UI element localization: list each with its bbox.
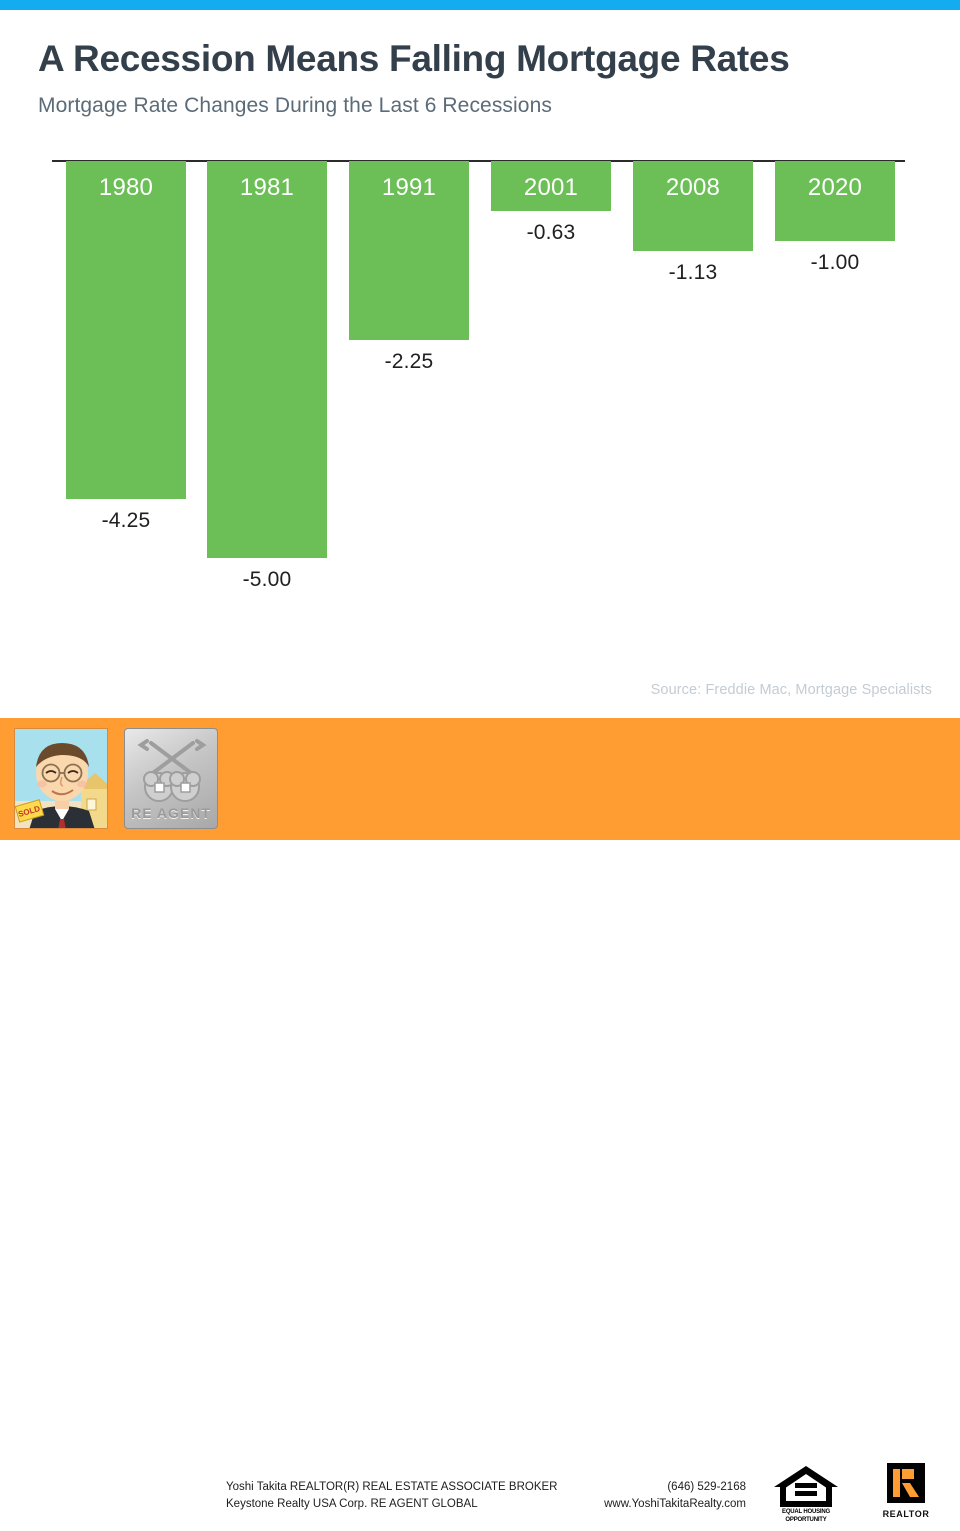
bar-chart: 1980 -4.25 1981 -5.00 1991 -2.25 2001 -0… [0,0,960,720]
equal-housing-opportunity-logo: EQUAL HOUSING OPPORTUNITY [772,1463,840,1531]
realtor-caption: REALTOR [876,1509,936,1519]
bar-value-2008: -1.13 [633,261,753,285]
bar-1980 [66,161,186,499]
bar-label-1991: 1991 [349,174,469,202]
bar-value-1991: -2.25 [349,350,469,374]
bar-value-1980: -4.25 [66,509,186,533]
equal-housing-caption: EQUAL HOUSING OPPORTUNITY [772,1509,840,1524]
realtor-r-icon [876,1463,936,1507]
footer-bar: SOLD RE AGENT [0,718,960,840]
bar-label-2020: 2020 [775,174,895,202]
agent-phone[interactable]: (646) 529-2168 [667,1479,746,1496]
eho-caption-line1: EQUAL HOUSING [782,1509,830,1515]
bar-label-2001: 2001 [491,174,611,202]
agent-contact-block: Yoshi Takita REALTOR(R) REAL ESTATE ASSO… [226,1479,746,1513]
eho-caption-line2: OPPORTUNITY [785,1517,826,1523]
re-agent-badge-text: RE AGENT [125,805,217,821]
bar-label-1981: 1981 [207,174,327,202]
equal-housing-house-icon [772,1463,840,1509]
agent-brokerage: Keystone Realty USA Corp. RE AGENT GLOBA… [226,1496,492,1513]
bar-label-1980: 1980 [66,174,186,202]
contact-line-2: Keystone Realty USA Corp. RE AGENT GLOBA… [226,1496,746,1513]
realtor-logo: REALTOR [876,1463,936,1531]
re-agent-badge-logo: RE AGENT [124,728,218,829]
agent-caricature-photo: SOLD [14,728,108,829]
bar-value-2001: -0.63 [491,221,611,245]
caricature-illustration: SOLD [15,729,108,829]
bar-value-1981: -5.00 [207,568,327,592]
source-note: Source: Freddie Mac, Mortgage Specialist… [651,682,932,698]
agent-name-title: Yoshi Takita REALTOR(R) REAL ESTATE ASSO… [226,1479,571,1496]
bar-value-2020: -1.00 [775,251,895,275]
bar-label-2008: 2008 [633,174,753,202]
contact-line-1: Yoshi Takita REALTOR(R) REAL ESTATE ASSO… [226,1479,746,1496]
bar-1981 [207,161,327,558]
agent-website[interactable]: www.YoshiTakitaRealty.com [604,1496,746,1513]
